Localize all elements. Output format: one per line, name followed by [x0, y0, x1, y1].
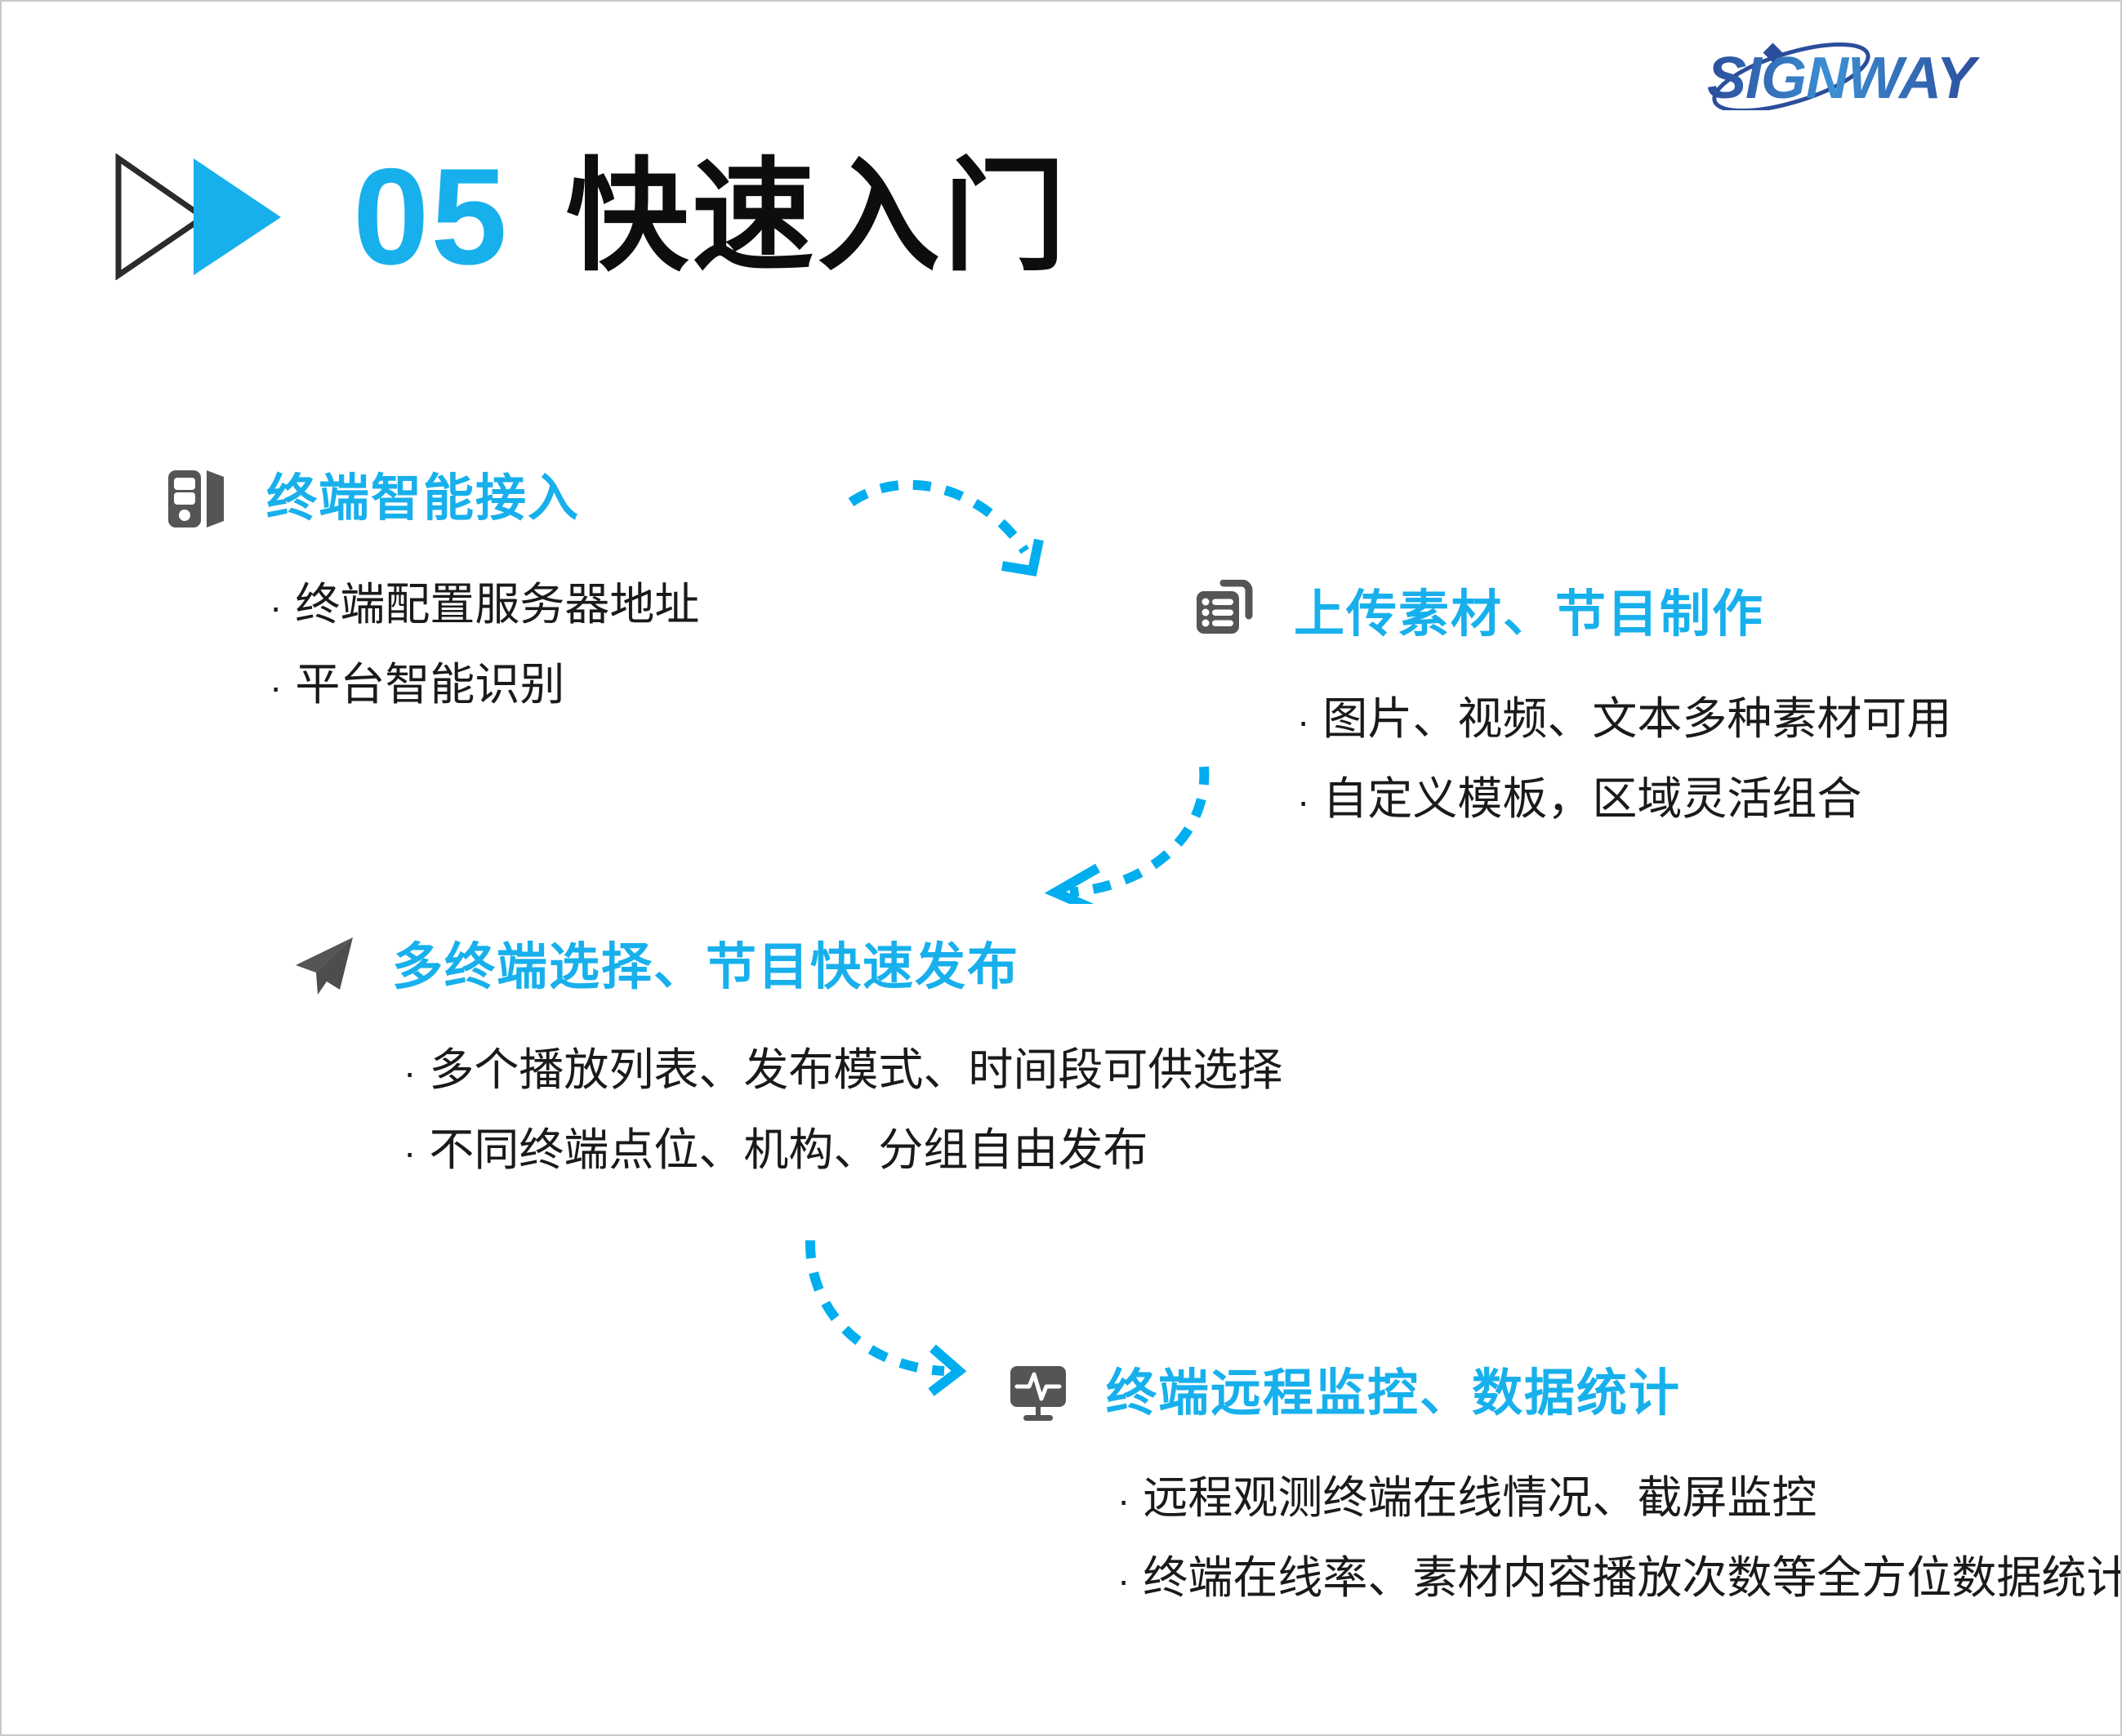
feature-block-terminal-access: 终端智能接入 · 终端配置服务器地址 · 平台智能识别	[163, 464, 699, 709]
list-item: · 自定义模板，区域灵活组合	[1297, 776, 1951, 823]
feature-bullet-list: · 图片、视频、文本多种素材可用 · 自定义模板，区域灵活组合	[1297, 696, 1951, 823]
list-item: · 终端配置服务器地址	[270, 581, 699, 629]
page-title: 快速入门	[566, 155, 1069, 278]
bullet-text: 不同终端点位、机构、分组自由发布	[429, 1127, 1148, 1174]
bullet-text: 图片、视频、文本多种素材可用	[1322, 696, 1951, 743]
feature-title: 上传素材、节目制作	[1294, 590, 1764, 640]
feature-bullet-list: · 远程观测终端在线情况、截屏监控 · 终端在线率、素材内容播放次数等全方位数据…	[1117, 1475, 2122, 1602]
list-item: · 终端在线率、素材内容播放次数等全方位数据统计	[1117, 1555, 2122, 1602]
bullet-text: 自定义模板，区域灵活组合	[1322, 776, 1861, 823]
dashed-curved-arrow-down-left-icon	[1023, 749, 1243, 904]
slide-canvas: SIGNWAY 05 快速入门	[0, 0, 2122, 1736]
document-list-icon	[1191, 580, 1261, 650]
list-item: · 不同终端点位、机构、分组自由发布	[403, 1127, 1282, 1174]
dashed-curved-arrow-down-right-icon	[769, 1231, 1006, 1402]
feature-bullet-list: · 多个播放列表、发布模式、时间段可供选择 · 不同终端点位、机构、分组自由发布	[403, 1047, 1282, 1174]
svg-text:SIGNWAY: SIGNWAY	[1707, 46, 1981, 110]
double-play-triangle-icon	[112, 154, 288, 280]
bullet-marker: ·	[403, 1053, 416, 1091]
feature-title: 终端智能接入	[266, 474, 580, 524]
list-item: · 图片、视频、文本多种素材可用	[1297, 696, 1951, 743]
bullet-text: 平台智能识别	[295, 661, 564, 709]
paper-plane-send-icon	[289, 933, 359, 1003]
feature-title: 多终端选择、节目快速发布	[392, 942, 1019, 993]
feature-title: 终端远程监控、数据统计	[1106, 1369, 1681, 1419]
signway-logo: SIGNWAY	[1697, 33, 2057, 110]
feature-header: 上传素材、节目制作	[1191, 580, 1951, 650]
bullet-text: 终端配置服务器地址	[295, 581, 699, 629]
list-item: · 多个播放列表、发布模式、时间段可供选择	[403, 1047, 1282, 1094]
feature-block-upload-material: 上传素材、节目制作 · 图片、视频、文本多种素材可用 · 自定义模板，区域灵活组…	[1191, 580, 1951, 823]
list-item: · 远程观测终端在线情况、截屏监控	[1117, 1475, 2122, 1522]
bullet-marker: ·	[270, 588, 282, 625]
monitor-pulse-icon	[1003, 1359, 1073, 1429]
title-number: 05	[353, 148, 509, 285]
feature-header: 终端远程监控、数据统计	[1003, 1359, 2122, 1429]
feature-bullet-list: · 终端配置服务器地址 · 平台智能识别	[270, 581, 699, 709]
bullet-marker: ·	[1297, 782, 1309, 820]
list-item: · 平台智能识别	[270, 661, 699, 709]
feature-block-remote-monitor-stats: 终端远程监控、数据统计 · 远程观测终端在线情况、截屏监控 · 终端在线率、素材…	[1003, 1359, 2122, 1602]
feature-block-multi-terminal-publish: 多终端选择、节目快速发布 · 多个播放列表、发布模式、时间段可供选择 · 不同终…	[289, 933, 1282, 1174]
feature-header: 多终端选择、节目快速发布	[289, 933, 1282, 1003]
bullet-text: 多个播放列表、发布模式、时间段可供选择	[429, 1047, 1282, 1094]
slide-title: 05 快速入门	[112, 139, 1069, 294]
bullet-marker: ·	[1117, 1561, 1130, 1599]
bullet-marker: ·	[1297, 702, 1309, 740]
bullet-marker: ·	[1117, 1481, 1130, 1519]
server-tower-icon	[163, 464, 234, 534]
bullet-marker: ·	[270, 668, 282, 706]
bullet-text: 远程观测终端在线情况、截屏监控	[1143, 1475, 1817, 1522]
bullet-marker: ·	[403, 1133, 416, 1171]
dashed-curved-arrow-right-down-icon	[827, 463, 1096, 594]
bullet-text: 终端在线率、素材内容播放次数等全方位数据统计	[1143, 1555, 2122, 1602]
feature-header: 终端智能接入	[163, 464, 699, 534]
